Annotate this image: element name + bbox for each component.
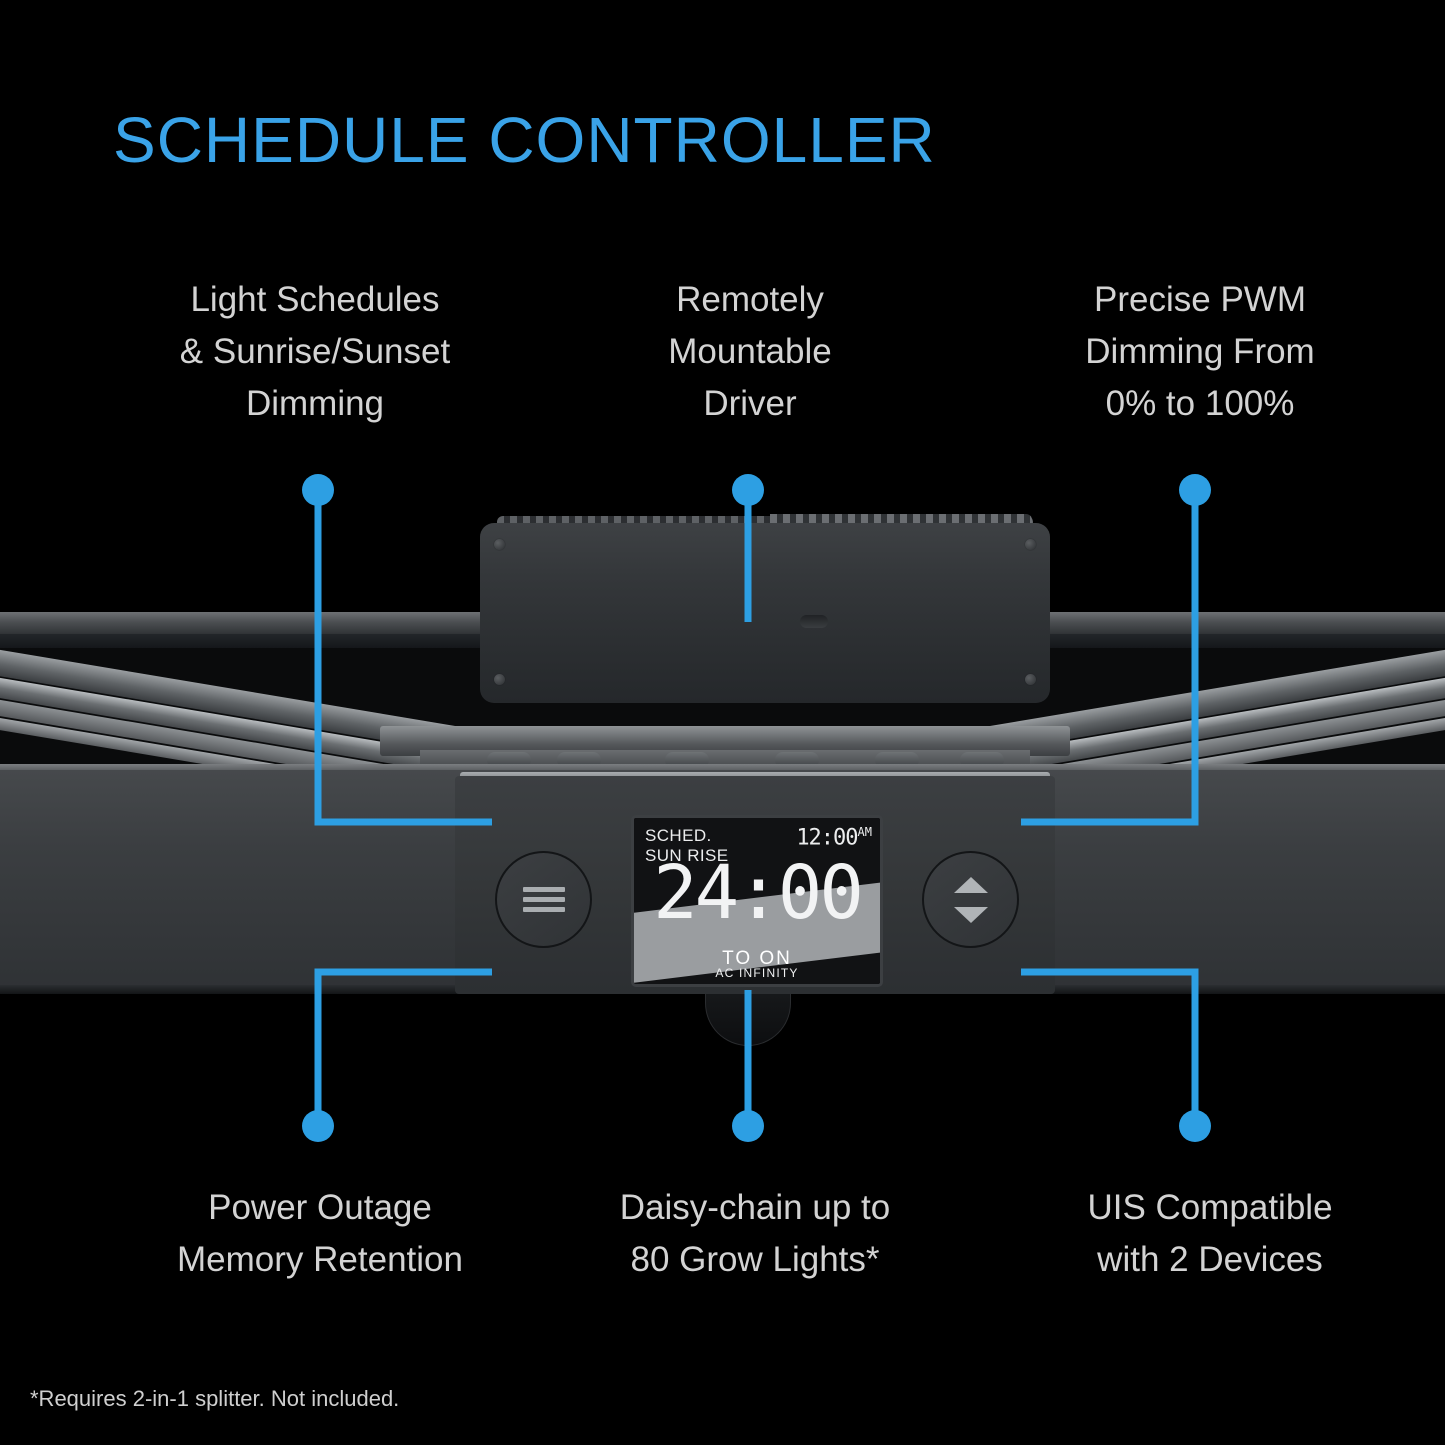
callout-dot-top-mid — [732, 474, 764, 506]
callout-dot-bottom-left — [302, 1110, 334, 1142]
feature-line: 80 Grow Lights* — [555, 1234, 955, 1286]
page-title: SCHEDULE CONTROLLER — [113, 103, 936, 177]
callout-line-bottom-right — [1021, 972, 1195, 1124]
feature-line: UIS Compatible — [1010, 1182, 1410, 1234]
feature-line: & Sunrise/Sunset — [90, 326, 540, 378]
feature-line: Light Schedules — [90, 274, 540, 326]
callout-line-top-left — [318, 492, 492, 822]
callout-dot-top-left — [302, 474, 334, 506]
feature-line: Driver — [575, 378, 925, 430]
feature-line: Dimming From — [1020, 326, 1380, 378]
callout-line-bottom-left — [318, 972, 492, 1124]
feature-line: Dimming — [90, 378, 540, 430]
feature-line: 0% to 100% — [1020, 378, 1380, 430]
feature-line: Power Outage — [100, 1182, 540, 1234]
feature-line: Remotely — [575, 274, 925, 326]
feature-uis-compatible: UIS Compatible with 2 Devices — [1010, 1182, 1410, 1286]
feature-precise-pwm-dimming: Precise PWM Dimming From 0% to 100% — [1020, 274, 1380, 430]
feature-line: with 2 Devices — [1010, 1234, 1410, 1286]
callout-dot-top-right — [1179, 474, 1211, 506]
feature-power-outage-memory: Power Outage Memory Retention — [100, 1182, 540, 1286]
feature-line: Mountable — [575, 326, 925, 378]
callout-dot-bottom-right — [1179, 1110, 1211, 1142]
footnote: *Requires 2-in-1 splitter. Not included. — [30, 1386, 399, 1412]
callout-dot-bottom-mid — [732, 1110, 764, 1142]
feature-line: Precise PWM — [1020, 274, 1380, 326]
feature-daisy-chain: Daisy-chain up to 80 Grow Lights* — [555, 1182, 955, 1286]
feature-remotely-mountable-driver: Remotely Mountable Driver — [575, 274, 925, 430]
feature-line: Daisy-chain up to — [555, 1182, 955, 1234]
callout-line-top-right — [1021, 492, 1195, 822]
feature-line: Memory Retention — [100, 1234, 540, 1286]
feature-light-schedules: Light Schedules & Sunrise/Sunset Dimming — [90, 274, 540, 430]
